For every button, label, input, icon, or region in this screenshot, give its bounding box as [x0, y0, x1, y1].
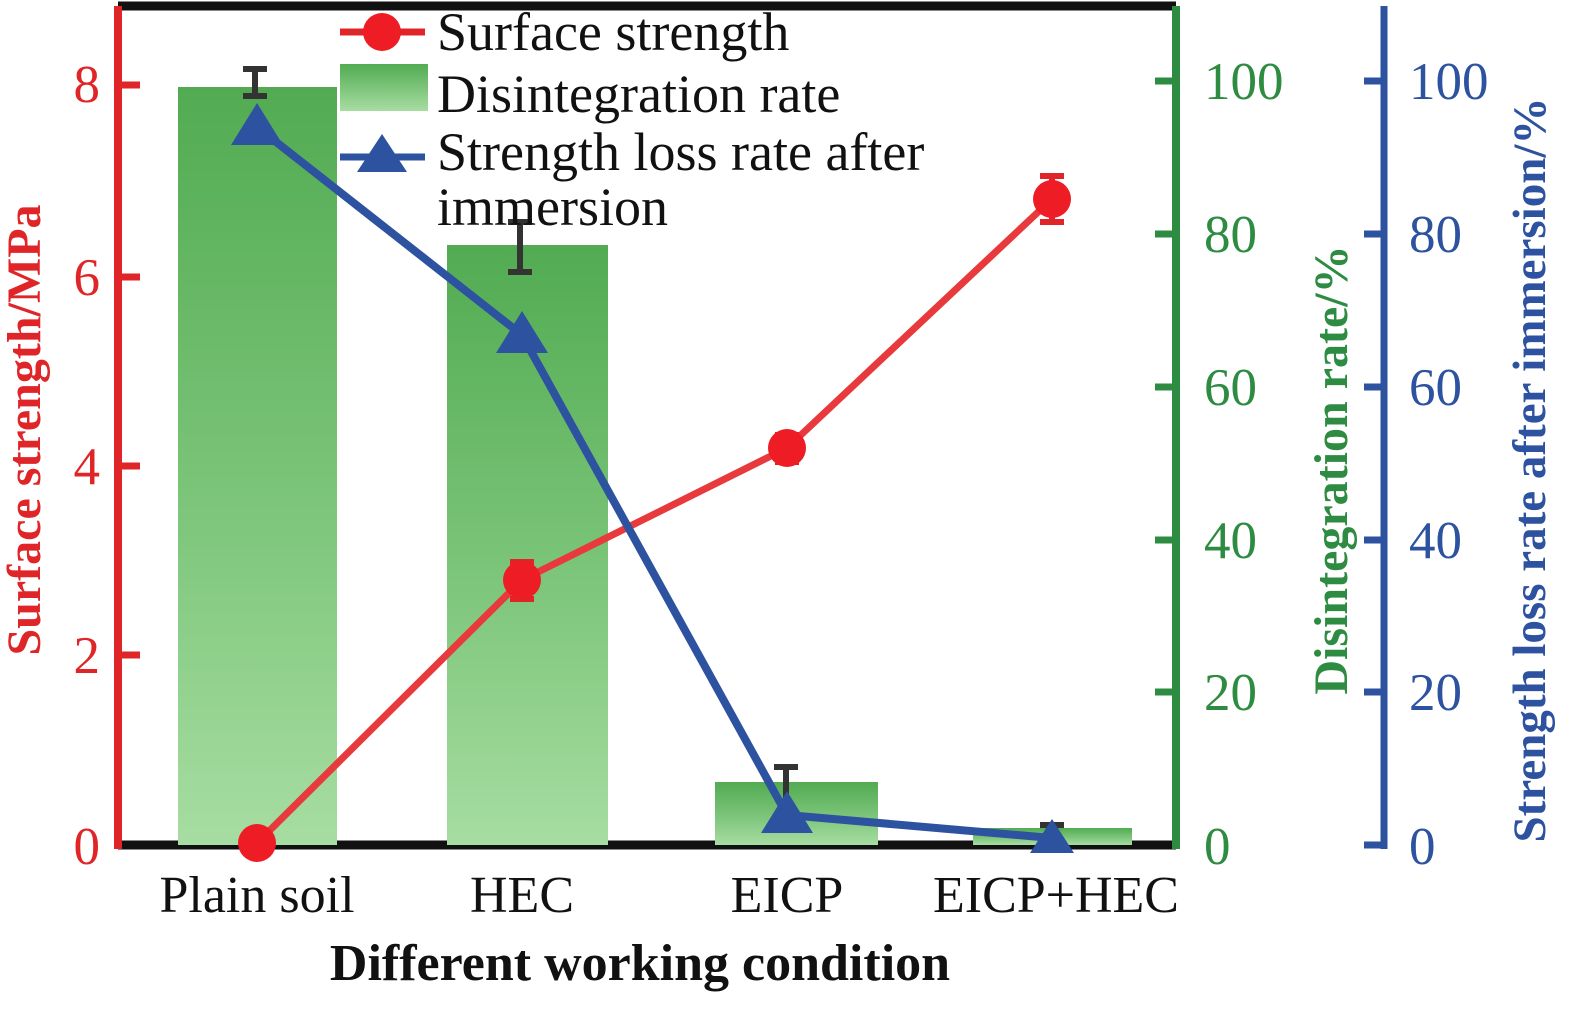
right-inner-axis: 100 80 60 40 20 0 Disintegration rate/% [1155, 6, 1358, 876]
x-tick-label-eicp: EICP [731, 867, 844, 924]
legend-label-surface-strength: Surface strength [437, 2, 789, 62]
marker-surface-strength-1[interactable] [503, 561, 541, 599]
legend-triangle-icon [357, 134, 407, 172]
legend-item-surface-strength[interactable]: Surface strength [340, 2, 789, 62]
blue-tick-40: 40 [1409, 512, 1462, 570]
blue-tick-20: 20 [1409, 664, 1462, 722]
blue-tick-100: 100 [1409, 53, 1489, 111]
line-series-surface-strength [238, 176, 1071, 862]
left-tick-4: 4 [74, 438, 101, 496]
marker-surface-strength-3[interactable] [1033, 180, 1071, 218]
right-inner-axis-label: Disintegration rate/% [1305, 245, 1358, 694]
left-tick-2: 2 [74, 627, 101, 685]
legend-item-disintegration-rate[interactable]: Disintegration rate [340, 64, 840, 124]
left-tick-8: 8 [74, 56, 101, 114]
legend-item-strength-loss-rate[interactable]: Strength loss rate after immersion [340, 122, 924, 237]
blue-tick-80: 80 [1409, 206, 1462, 264]
bar-plain-soil[interactable] [178, 87, 337, 845]
left-tick-6: 6 [74, 249, 101, 307]
x-tick-label-eicp-hec: EICP+HEC [933, 867, 1179, 924]
right-outer-axis-label: Strength loss rate after immersion/% [1504, 98, 1556, 843]
marker-surface-strength-0[interactable] [238, 824, 276, 862]
right-outer-axis: 100 80 60 40 20 0 Strength loss rate aft… [1364, 6, 1556, 876]
x-tick-label-hec: HEC [470, 867, 574, 924]
x-axis-title: Different working condition [330, 935, 950, 992]
legend: Surface strength Disintegration rate Str… [340, 2, 924, 237]
green-tick-40: 40 [1204, 512, 1257, 570]
left-axis-label: Surface strength/MPa [0, 204, 51, 655]
x-tick-label-plain-soil: Plain soil [159, 867, 354, 924]
left-axis: 8 6 4 2 0 Surface strength/MPa [0, 6, 140, 876]
legend-label-disintegration-rate: Disintegration rate [437, 64, 840, 124]
green-tick-0: 0 [1204, 818, 1231, 876]
legend-gradient-box-icon [340, 64, 428, 111]
legend-label-strength-loss-rate-line1: Strength loss rate after [437, 122, 924, 182]
figure-root: 8 6 4 2 0 Surface strength/MPa 100 80 60… [0, 0, 1575, 1014]
left-tick-0: 0 [74, 818, 101, 876]
green-tick-20: 20 [1204, 664, 1257, 722]
marker-surface-strength-2[interactable] [768, 429, 806, 467]
blue-tick-0: 0 [1409, 818, 1436, 876]
green-tick-100: 100 [1204, 53, 1284, 111]
green-tick-80: 80 [1204, 206, 1257, 264]
legend-circle-icon [363, 13, 401, 51]
green-tick-60: 60 [1204, 359, 1257, 417]
chart-svg: 8 6 4 2 0 Surface strength/MPa 100 80 60… [0, 0, 1575, 1014]
blue-tick-60: 60 [1409, 359, 1462, 417]
x-axis-category-labels: Plain soil HEC EICP EICP+HEC Different w… [159, 867, 1179, 992]
legend-label-strength-loss-rate-line2: immersion [437, 177, 668, 237]
